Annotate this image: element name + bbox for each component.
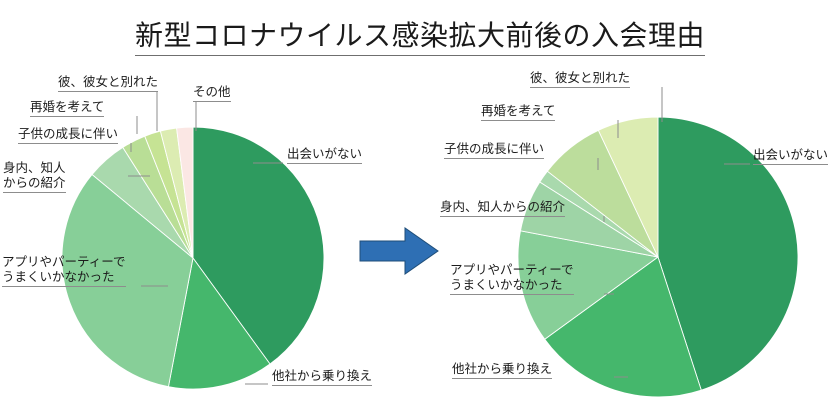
- label-left-app-party: アプリやパーティーでうまくいかなかった: [2, 255, 126, 287]
- label-left-switch: 他社から乗り換え: [272, 369, 372, 386]
- label-right-remarriage: 再婚を考えて: [481, 104, 555, 121]
- label-right-child-growth: 子供の成長に伴い: [444, 142, 544, 159]
- label-right-broke-up: 彼、彼女と別れた: [530, 71, 630, 88]
- slide-canvas: 新型コロナウイルス感染拡大前後の入会理由 その他 彼、彼女と別れた 再婚を考えて…: [0, 0, 840, 420]
- label-left-remarriage: 再婚を考えて: [30, 100, 104, 117]
- label-left-no-encounter: 出会いがない: [287, 147, 362, 164]
- label-left-other: その他: [193, 85, 231, 102]
- label-left-child-growth: 子供の成長に伴い: [18, 127, 118, 144]
- label-left-referral: 身内、知人からの紹介: [3, 161, 66, 193]
- label-right-app-party: アプリやパーティーでうまくいかなかった: [450, 263, 574, 295]
- transition-arrow: [360, 228, 438, 274]
- label-left-broke-up: 彼、彼女と別れた: [58, 75, 158, 92]
- pie-charts-svg: [0, 0, 840, 420]
- label-right-switch: 他社から乗り換え: [452, 362, 552, 379]
- label-right-referral: 身内、知人からの紹介: [440, 200, 565, 217]
- label-right-no-encounter: 出会いがない: [753, 148, 828, 165]
